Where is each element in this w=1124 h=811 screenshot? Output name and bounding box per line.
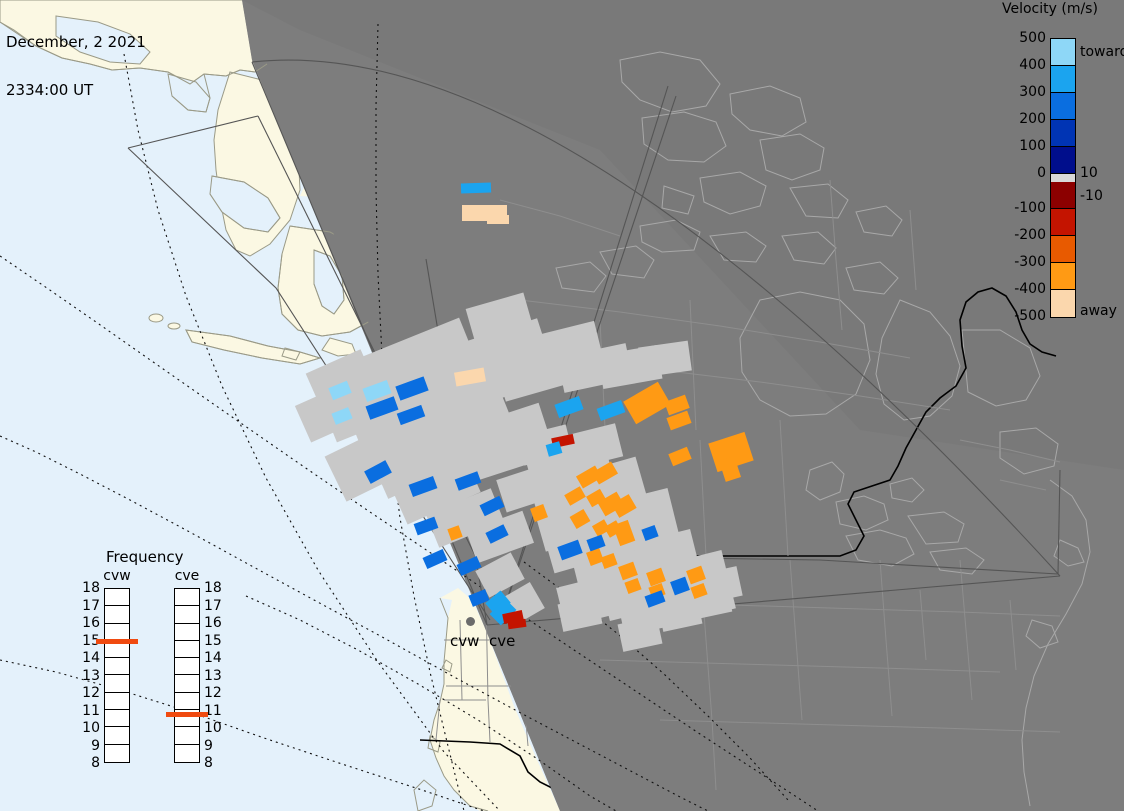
frequency-marker-cve — [166, 712, 208, 717]
velocity-tick-label: -100 — [998, 200, 1046, 216]
velocity-tick-label: 100 — [998, 138, 1046, 154]
frequency-tick-label: 9 — [204, 738, 226, 754]
radar-cell — [461, 182, 491, 193]
frequency-segment — [105, 589, 129, 606]
velocity-color-segment — [1051, 93, 1075, 120]
velocity-color-segment — [1051, 263, 1075, 290]
frequency-segment — [175, 745, 199, 762]
velocity-tick-label: 300 — [998, 84, 1046, 100]
velocity-color-segment — [1051, 39, 1075, 66]
radar-cell — [597, 400, 626, 421]
timestamp-block: December, 2 2021 2334:00 UT — [6, 2, 146, 130]
frequency-tick-label: 10 — [78, 720, 100, 736]
velocity-color-segment — [1051, 209, 1075, 236]
frequency-segment — [105, 693, 129, 710]
velocity-toward-label: toward — [1080, 44, 1124, 60]
velocity-center-negative-label: -10 — [1080, 188, 1103, 204]
frequency-segment — [105, 658, 129, 675]
frequency-tick-label: 10 — [204, 720, 226, 736]
velocity-color-segment — [1051, 66, 1075, 93]
velocity-color-segment — [1051, 290, 1075, 317]
velocity-tick-label: -400 — [998, 281, 1046, 297]
frequency-segment — [175, 693, 199, 710]
frequency-tick-label: 8 — [204, 755, 226, 771]
frequency-segment — [175, 658, 199, 675]
velocity-neutral-segment — [1051, 174, 1075, 182]
velocity-center-positive-label: 10 — [1080, 165, 1098, 181]
velocity-tick-label: -500 — [998, 308, 1046, 324]
radar-site-label-cve: cve — [489, 632, 515, 650]
frequency-tick-label: 12 — [78, 685, 100, 701]
frequency-segment — [105, 727, 129, 744]
frequency-segment — [175, 675, 199, 692]
frequency-segment — [105, 606, 129, 623]
velocity-color-segment — [1051, 120, 1075, 147]
velocity-color-segment — [1051, 147, 1075, 174]
frequency-tick-label: 16 — [204, 615, 226, 631]
velocity-tick-label: 400 — [998, 57, 1046, 73]
radar-cell — [554, 396, 583, 418]
radar-cell — [487, 215, 509, 224]
frequency-segment — [175, 606, 199, 623]
radar-cell — [423, 549, 448, 569]
frequency-tick-label: 9 — [78, 738, 100, 754]
frequency-segment — [105, 710, 129, 727]
frequency-column-label-cvw: cvw — [94, 568, 140, 584]
frequency-tick-label: 18 — [78, 580, 100, 596]
radar-cell — [668, 447, 691, 467]
velocity-tick-label: -200 — [998, 227, 1046, 243]
radar-site-marker — [466, 617, 475, 626]
velocity-tick-label: 500 — [998, 30, 1046, 46]
timestamp-date: December, 2 2021 — [6, 34, 146, 50]
frequency-tick-label: 14 — [204, 650, 226, 666]
frequency-tick-label: 15 — [204, 633, 226, 649]
velocity-away-label: away — [1080, 303, 1117, 319]
velocity-tick-label: 0 — [998, 165, 1046, 181]
timestamp-time: 2334:00 UT — [6, 82, 146, 98]
frequency-tick-label: 16 — [78, 615, 100, 631]
velocity-colorbar-panel: Velocity (m/s) 5004003002001000-100-200-… — [998, 0, 1124, 330]
frequency-tick-label: 12 — [204, 685, 226, 701]
frequency-bar-cvw — [104, 588, 130, 763]
frequency-tick-label: 11 — [78, 703, 100, 719]
frequency-marker-cvw — [96, 639, 138, 644]
frequency-legend-title: Frequency — [106, 548, 184, 566]
frequency-tick-label: 13 — [78, 668, 100, 684]
frequency-segment — [175, 589, 199, 606]
frequency-legend-panel: Frequency cvw 18171615141312111098 cve — [84, 548, 244, 773]
frequency-tick-label: 8 — [78, 755, 100, 771]
frequency-segment — [175, 641, 199, 658]
frequency-tick-label: 13 — [204, 668, 226, 684]
frequency-tick-label: 17 — [78, 598, 100, 614]
frequency-segment — [175, 727, 199, 744]
velocity-tick-label: 200 — [998, 111, 1046, 127]
velocity-color-segment — [1051, 236, 1075, 263]
velocity-color-segment — [1051, 182, 1075, 209]
frequency-tick-label: 18 — [204, 580, 226, 596]
velocity-tick-label: -300 — [998, 254, 1046, 270]
velocity-colorbar-title: Velocity (m/s) — [1002, 1, 1098, 17]
frequency-segment — [105, 745, 129, 762]
frequency-bar-cve — [174, 588, 200, 763]
frequency-segment — [175, 624, 199, 641]
radar-cell — [508, 619, 527, 629]
frequency-segment — [105, 675, 129, 692]
radar-site-label-cvw: cvw — [450, 632, 479, 650]
velocity-colorbar — [1050, 38, 1076, 318]
fan-plot-canvas: cvw cve December, 2 2021 2334:00 UT Velo… — [0, 0, 1124, 811]
frequency-tick-label: 17 — [204, 598, 226, 614]
frequency-tick-label: 14 — [78, 650, 100, 666]
